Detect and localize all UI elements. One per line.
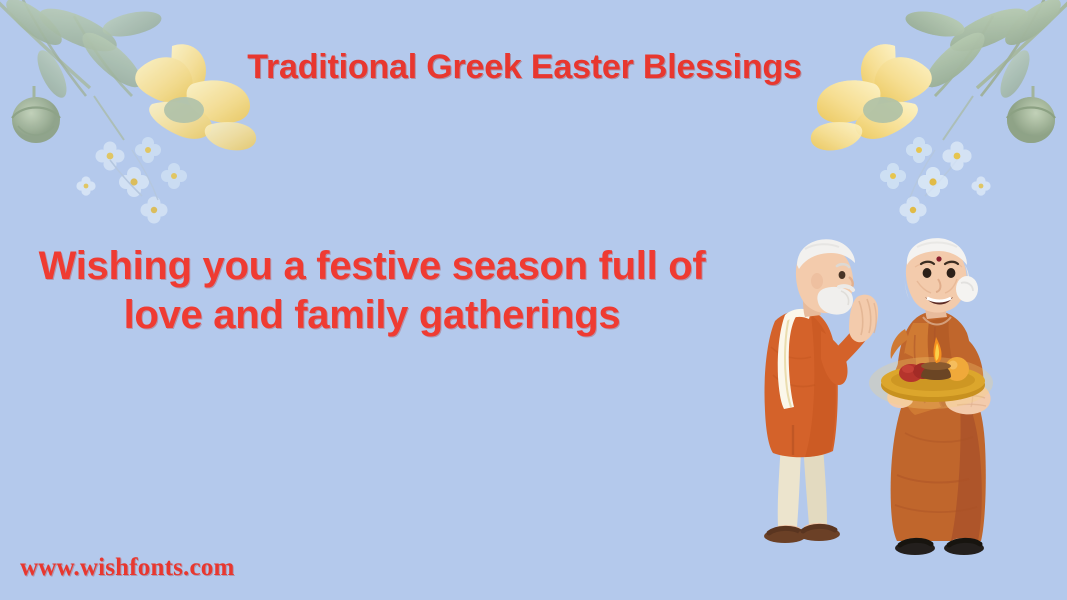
woman-head [905, 238, 978, 312]
greeting-message-line-2: love and family gatherings [8, 291, 736, 340]
greeting-message-line-1: Wishing you a festive season full of [8, 242, 736, 291]
elderly-man-namaste [764, 239, 878, 543]
man-head [796, 239, 855, 314]
site-watermark: www.wishfonts.com [20, 554, 235, 582]
man-namaste-hand [849, 295, 878, 343]
man-sandals [764, 526, 840, 543]
page-title: Traditional Greek Easter Blessings [0, 48, 1067, 87]
watercolor-floral-corner-right [785, 0, 1067, 230]
greeting-message: Wishing you a festive season full of lov… [8, 242, 736, 340]
elderly-couple-greeting-illustration [745, 235, 1035, 575]
greeting-card: Traditional Greek Easter Blessings Wishi… [0, 0, 1067, 600]
woman-sandals [895, 540, 984, 555]
elderly-woman-with-puja-thali [869, 238, 993, 555]
watercolor-floral-corner-left [0, 0, 282, 230]
